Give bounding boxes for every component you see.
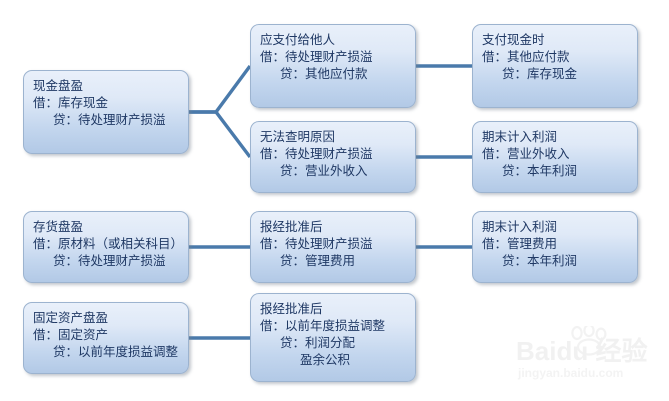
node-text-line: 借：管理费用	[482, 236, 628, 253]
baidu-watermark: Baidu 经验 jingyan.baidu.com	[516, 326, 666, 384]
node-text-line: 报经批准后	[260, 219, 406, 236]
connector-cash-to-unknown	[189, 112, 250, 157]
node-text-line: 贷：库存现金	[482, 66, 628, 83]
node-text-line: 贷：管理费用	[260, 253, 406, 270]
node-text-line: 应支付给他人	[260, 32, 406, 49]
watermark-main-text: Baidu 经验	[516, 338, 647, 364]
node-text-line: 期末计入利润	[482, 219, 628, 236]
node-text-line: 贷：营业外收入	[260, 163, 406, 180]
node-text-line: 存货盘盈	[33, 219, 179, 236]
after-approval-inventory-node[interactable]: 报经批准后借：待处理财产损溢贷：管理费用	[250, 211, 416, 283]
cash-surplus-node[interactable]: 现金盘盈借：库存现金贷：待处理财产损溢	[23, 70, 189, 154]
connector-cash-to-payable	[189, 66, 250, 112]
watermark-sub-text: jingyan.baidu.com	[518, 366, 623, 380]
node-text-line: 贷：利润分配	[260, 335, 406, 352]
node-text-line: 期末计入利润	[482, 129, 628, 146]
payable-to-others-node[interactable]: 应支付给他人借：待处理财产损溢贷：其他应付款	[250, 24, 416, 108]
node-text-line: 贷：待处理财产损溢	[33, 253, 179, 270]
node-text-line: 借：其他应付款	[482, 49, 628, 66]
inventory-surplus-node[interactable]: 存货盘盈借：原材料（或相关科目）贷：待处理财产损溢	[23, 211, 189, 283]
period-end-profit-nonoperating-node[interactable]: 期末计入利润借：营业外收入贷：本年利润	[472, 121, 638, 193]
node-text-line: 贷：本年利润	[482, 253, 628, 270]
node-text-line: 贷：待处理财产损溢	[33, 112, 179, 129]
node-text-line: 贷：其他应付款	[260, 66, 406, 83]
node-text-line: 支付现金时	[482, 32, 628, 49]
node-text-line: 借：待处理财产损溢	[260, 146, 406, 163]
flowchart-canvas: 现金盘盈借：库存现金贷：待处理财产损溢应支付给他人借：待处理财产损溢贷：其他应付…	[0, 0, 669, 401]
node-text-line: 借：固定资产	[33, 327, 179, 344]
node-text-line: 借：营业外收入	[482, 146, 628, 163]
node-text-line: 现金盘盈	[33, 78, 179, 95]
node-text-line: 借：待处理财产损溢	[260, 236, 406, 253]
node-text-line: 固定资产盘盈	[33, 310, 179, 327]
node-text-line: 借：待处理财产损溢	[260, 49, 406, 66]
period-end-profit-admin-node[interactable]: 期末计入利润借：管理费用贷：本年利润	[472, 211, 638, 283]
node-text-line: 借：库存现金	[33, 95, 179, 112]
fixed-asset-surplus-node[interactable]: 固定资产盘盈借：固定资产贷：以前年度损益调整	[23, 302, 189, 374]
node-text-line: 贷：以前年度损益调整	[33, 344, 179, 361]
node-text-line: 借：以前年度损益调整	[260, 318, 406, 335]
unknown-reason-node[interactable]: 无法查明原因借：待处理财产损溢贷：营业外收入	[250, 121, 416, 193]
after-approval-fixed-asset-node[interactable]: 报经批准后借：以前年度损益调整贷：利润分配盈余公积	[250, 293, 416, 382]
node-text-line: 报经批准后	[260, 301, 406, 318]
node-text-line: 借：原材料（或相关科目）	[33, 236, 179, 253]
node-text-line: 无法查明原因	[260, 129, 406, 146]
node-text-line: 贷：本年利润	[482, 163, 628, 180]
node-text-line: 盈余公积	[260, 352, 406, 369]
pay-cash-node[interactable]: 支付现金时借：其他应付款贷：库存现金	[472, 24, 638, 108]
